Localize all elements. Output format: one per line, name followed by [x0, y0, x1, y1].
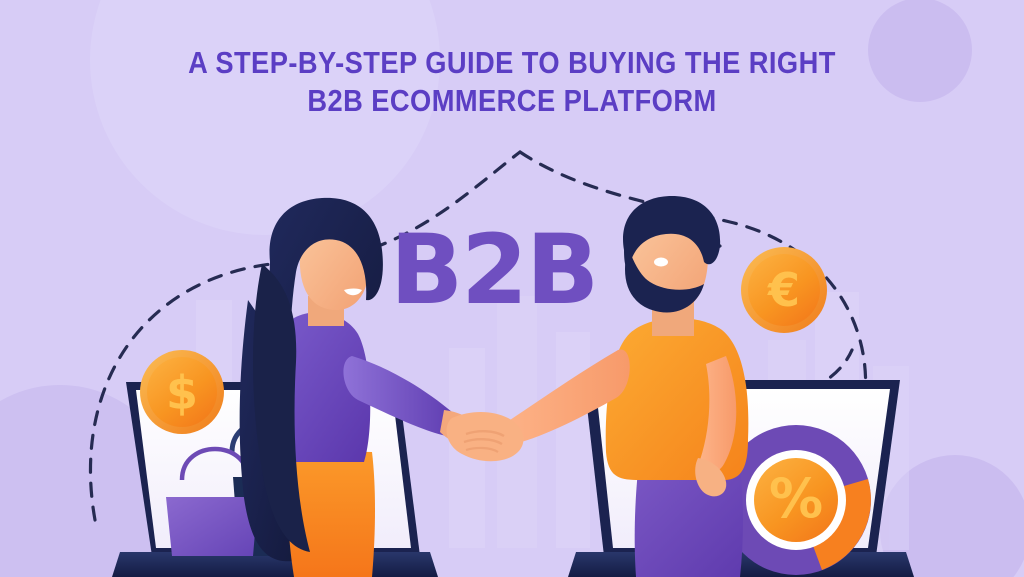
- euro-symbol: €: [767, 263, 800, 317]
- illustration-banner: %: [0, 0, 1024, 577]
- coins-layer: $ €: [0, 0, 1024, 577]
- euro-coin: €: [741, 247, 827, 333]
- dollar-coin: $: [140, 350, 224, 434]
- dollar-symbol: $: [166, 366, 198, 420]
